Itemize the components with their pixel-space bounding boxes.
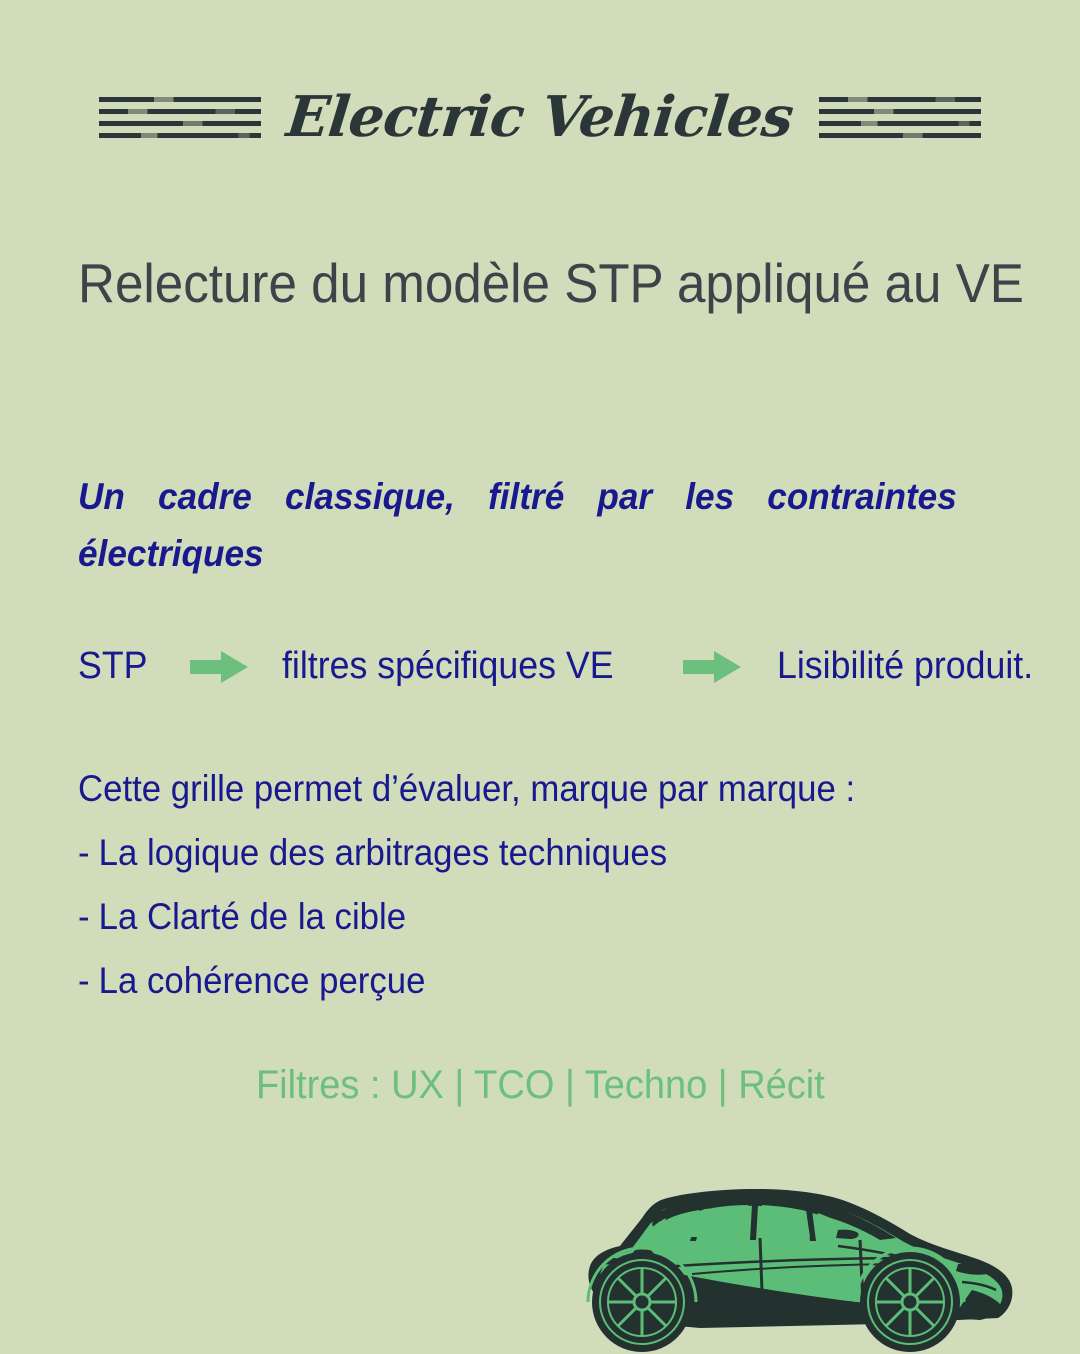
rule-line [819, 109, 981, 114]
list-item: - La logique des arbitrages techniques [78, 832, 952, 874]
body-block: Cette grille permet d’évaluer, marque pa… [78, 768, 1008, 1024]
electric-car-side-view-icon [580, 1178, 1020, 1354]
flow-step-1-label: STP [78, 645, 147, 688]
decorative-rule-left-icon [99, 87, 261, 147]
rule-line [819, 97, 981, 102]
bullet-marker: - [78, 960, 99, 1002]
list-item: - La cohérence perçue [78, 960, 952, 1002]
decorative-rule-right-icon [819, 87, 981, 147]
process-flow-row: STP filtres spécifiques VE Lisibilité pr… [78, 645, 1008, 688]
list-item-label: La cohérence perçue [99, 960, 426, 1002]
rule-line [99, 109, 261, 114]
brand-logo-text: Electric Vehicles [284, 84, 796, 150]
rule-line [99, 97, 261, 102]
filters-caption-label: Filtres : UX | TCO | Techno | Récit [256, 1063, 825, 1108]
list-item-label: La Clarté de la cible [99, 896, 406, 938]
rear-wheel [588, 1248, 696, 1352]
bullet-marker: - [78, 832, 99, 874]
body-intro: Cette grille permet d’évaluer, marque pa… [78, 768, 952, 810]
list-item: - La Clarté de la cible [78, 896, 952, 938]
rule-line [819, 133, 981, 138]
criteria-list: - La logique des arbitrages techniques -… [78, 832, 1008, 1002]
flow-step-3-label: Lisibilité produit. [777, 645, 1033, 688]
filters-caption: Filtres : UX | TCO | Techno | Récit [0, 1063, 1080, 1108]
rule-line [99, 133, 261, 138]
bullet-marker: - [78, 896, 99, 938]
rule-line [819, 121, 981, 126]
car-illustration [588, 1189, 1012, 1352]
flow-step-2-label: filtres spécifiques VE [282, 645, 614, 688]
page-title: Relecture du modèle STP appliqué au VE [78, 253, 952, 315]
list-item-label: La logique des arbitrages techniques [99, 832, 667, 874]
front-wheel [856, 1248, 964, 1352]
right-arrow-icon [190, 651, 248, 683]
lead-paragraph: Un cadre classique, filtré par les contr… [78, 468, 957, 640]
right-arrow-icon [683, 651, 741, 683]
rule-line [99, 121, 261, 126]
header-banner: Electric Vehicles [0, 72, 1080, 162]
